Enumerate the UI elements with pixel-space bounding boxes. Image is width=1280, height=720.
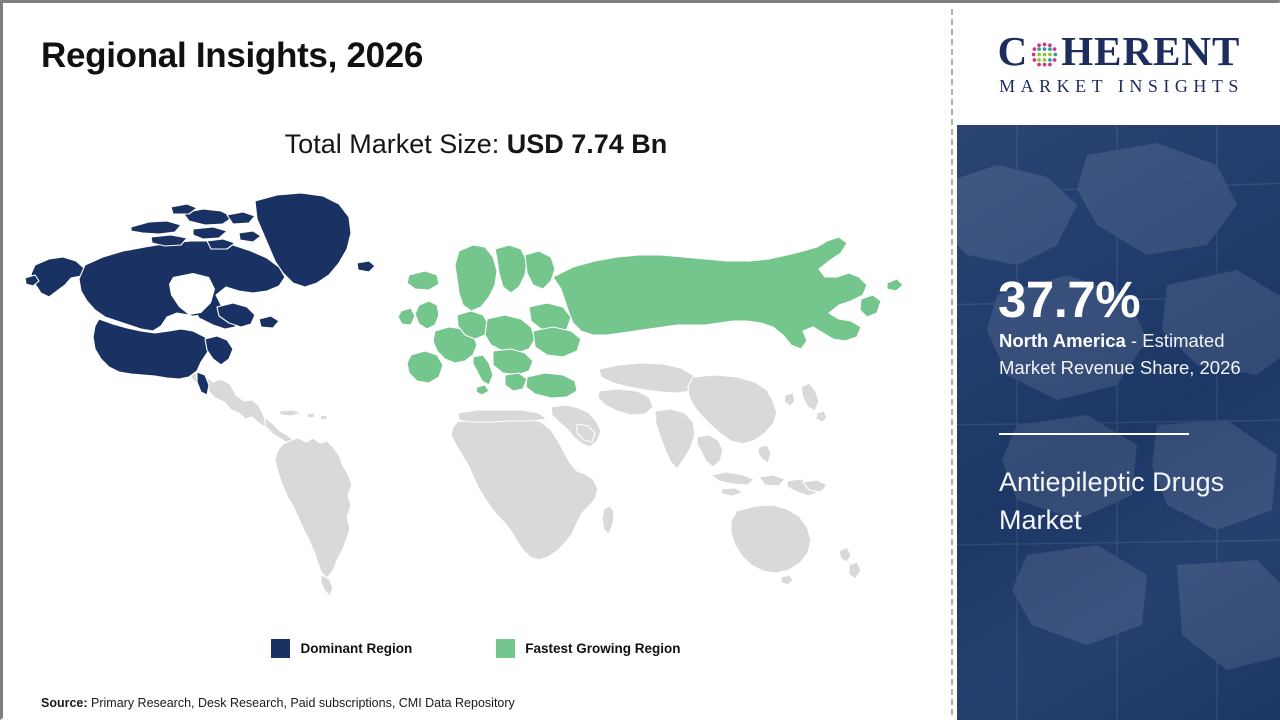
stat-region-name: North America <box>999 330 1126 351</box>
stat-panel: 37.7% North America - Estimated Market R… <box>957 125 1280 720</box>
stat-description: North America - Estimated Market Revenue… <box>999 328 1267 381</box>
map-region-other <box>191 363 861 596</box>
market-size-label: Total Market Size: <box>285 129 507 159</box>
logo-word-herent: HERENT <box>1061 31 1240 72</box>
total-market-size: Total Market Size: USD 7.74 Bn <box>3 129 949 160</box>
map-legend: Dominant Region Fastest Growing Region <box>3 639 949 658</box>
legend-swatch-dominant <box>271 639 290 658</box>
logo-wordmark: C <box>998 31 1241 72</box>
stat-divider <box>999 433 1189 435</box>
world-map[interactable] <box>21 179 931 619</box>
vertical-divider <box>951 9 953 715</box>
stat-value: 37.7% <box>998 274 1140 325</box>
panel-content: 37.7% North America - Estimated Market R… <box>957 125 1280 720</box>
page-title: Regional Insights, 2026 <box>41 36 423 76</box>
market-size-value: USD 7.74 Bn <box>507 129 668 159</box>
dotted-globe-icon <box>1029 39 1060 70</box>
source-note: Source: Primary Research, Desk Research,… <box>41 696 515 710</box>
source-text: Primary Research, Desk Research, Paid su… <box>88 696 515 710</box>
legend-item-fastest-growing[interactable]: Fastest Growing Region <box>496 639 680 658</box>
slide-frame: Regional Insights, 2026 Total Market Siz… <box>0 0 1280 720</box>
main-content-area: Regional Insights, 2026 Total Market Siz… <box>3 3 949 720</box>
source-label: Source: <box>41 696 88 710</box>
logo-subtitle: MARKET INSIGHTS <box>994 76 1244 97</box>
brand-logo[interactable]: C <box>957 3 1280 125</box>
legend-item-dominant[interactable]: Dominant Region <box>271 639 412 658</box>
market-name: Antiepileptic Drugs Market <box>999 463 1261 540</box>
legend-label-fastest-growing: Fastest Growing Region <box>525 641 680 656</box>
logo-letter-c: C <box>998 31 1029 72</box>
legend-label-dominant: Dominant Region <box>300 641 412 656</box>
right-sidebar: C <box>957 3 1280 720</box>
legend-swatch-fastest-growing <box>496 639 515 658</box>
